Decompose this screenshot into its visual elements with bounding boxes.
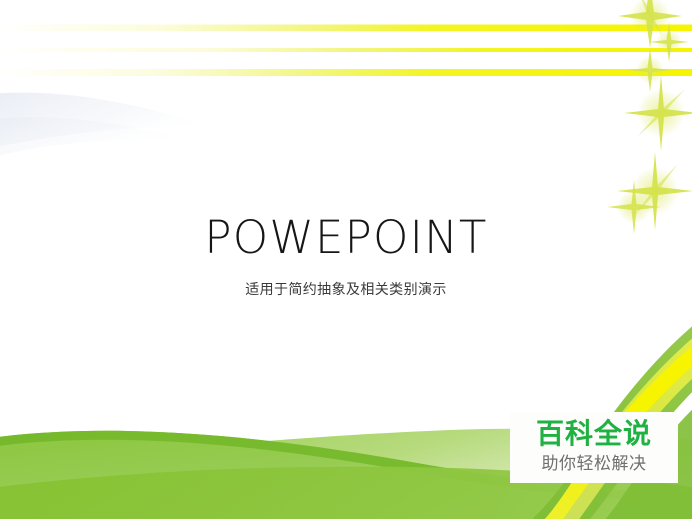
logo-badge: 百科全说 助你轻松解决 [510,412,678,483]
page-subtitle: 适用于简约抽象及相关类别演示 [0,283,692,298]
page-title: POWEPOINT [0,215,692,260]
presentation-slide: POWEPOINT 适用于简约抽象及相关类别演示 百科全说 助你轻松解决 [0,0,692,519]
slide-text-layer: POWEPOINT 适用于简约抽象及相关类别演示 百科全说 助你轻松解决 [0,0,692,519]
logo-tagline: 助你轻松解决 [510,454,678,474]
logo-name: 百科全说 [510,418,678,450]
